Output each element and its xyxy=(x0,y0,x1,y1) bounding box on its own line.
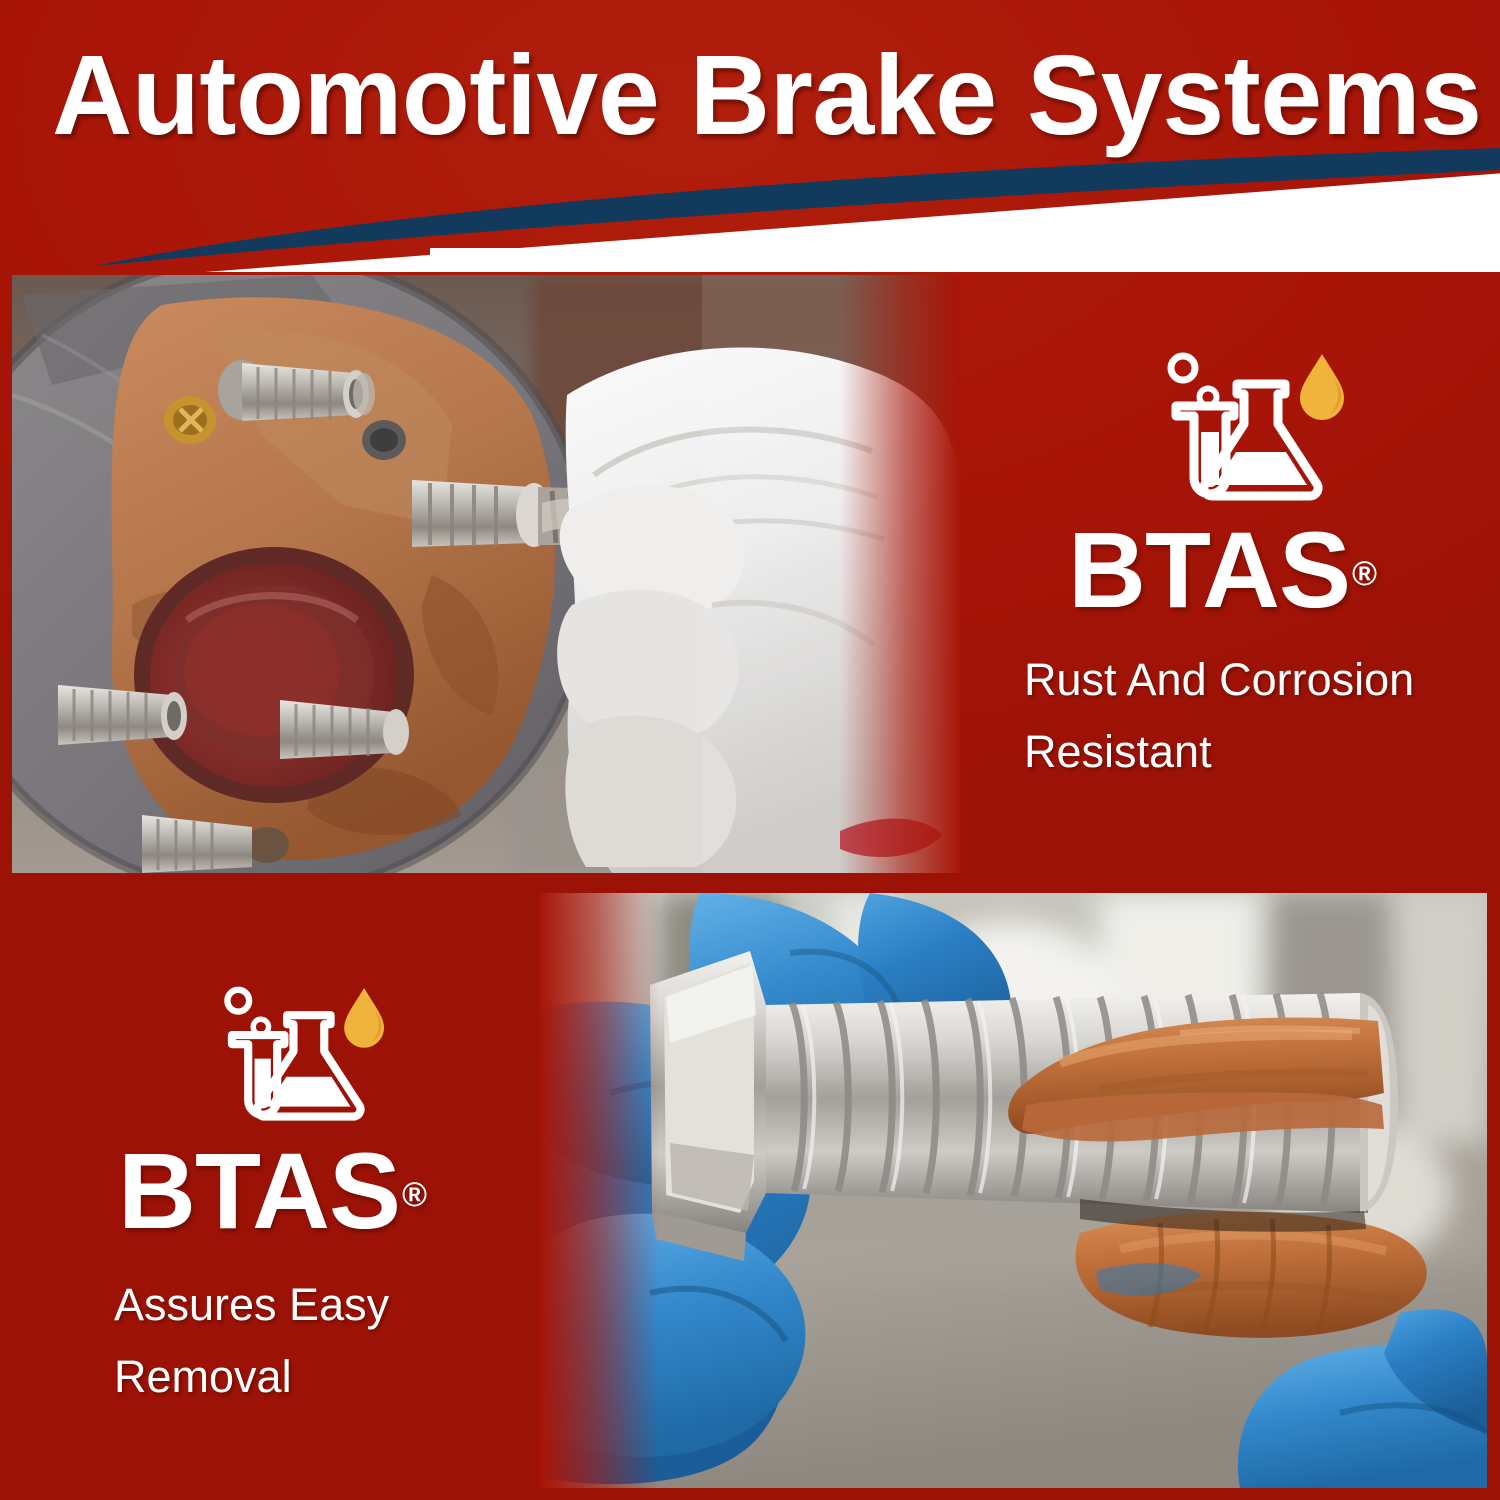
btas-wordmark-text: BTAS xyxy=(118,1130,400,1251)
tagline-line-2: Removal xyxy=(114,1341,528,1413)
lab-flask-testtube-droplet-icon xyxy=(1154,352,1344,504)
btas-wordmark-text: BTAS xyxy=(1068,509,1350,630)
brand-block-rust-corrosion: BTAS® Rust And Corrosion Resistant xyxy=(1020,352,1490,788)
brake-hub-illustration xyxy=(12,275,960,873)
registered-trademark-mark: ® xyxy=(1352,555,1377,593)
tagline-line-1: Assures Easy xyxy=(114,1269,528,1341)
tagline-line-2: Resistant xyxy=(1024,716,1490,788)
lab-flask-testtube-droplet-icon xyxy=(212,985,384,1125)
product-marketing-image: Automotive Brake Systems xyxy=(0,0,1500,1500)
navy-swoosh-icon xyxy=(95,148,1500,266)
brand-block-easy-removal: BTAS® Assures Easy Removal xyxy=(108,985,528,1413)
btas-wordmark: BTAS® xyxy=(118,1139,528,1243)
brand-tagline-rust-corrosion: Rust And Corrosion Resistant xyxy=(1024,644,1490,788)
header-band: Automotive Brake Systems xyxy=(0,0,1500,272)
brand-tagline-easy-removal: Assures Easy Removal xyxy=(114,1269,528,1413)
registered-trademark-mark: ® xyxy=(402,1176,427,1214)
page-title: Automotive Brake Systems xyxy=(52,36,1461,154)
btas-wordmark: BTAS® xyxy=(1068,518,1490,622)
tagline-line-1: Rust And Corrosion xyxy=(1024,644,1490,716)
photo-brake-hub-anti-seize xyxy=(12,275,960,873)
photo-bolt-anti-seize xyxy=(540,893,1487,1488)
bolt-illustration xyxy=(540,893,1487,1488)
